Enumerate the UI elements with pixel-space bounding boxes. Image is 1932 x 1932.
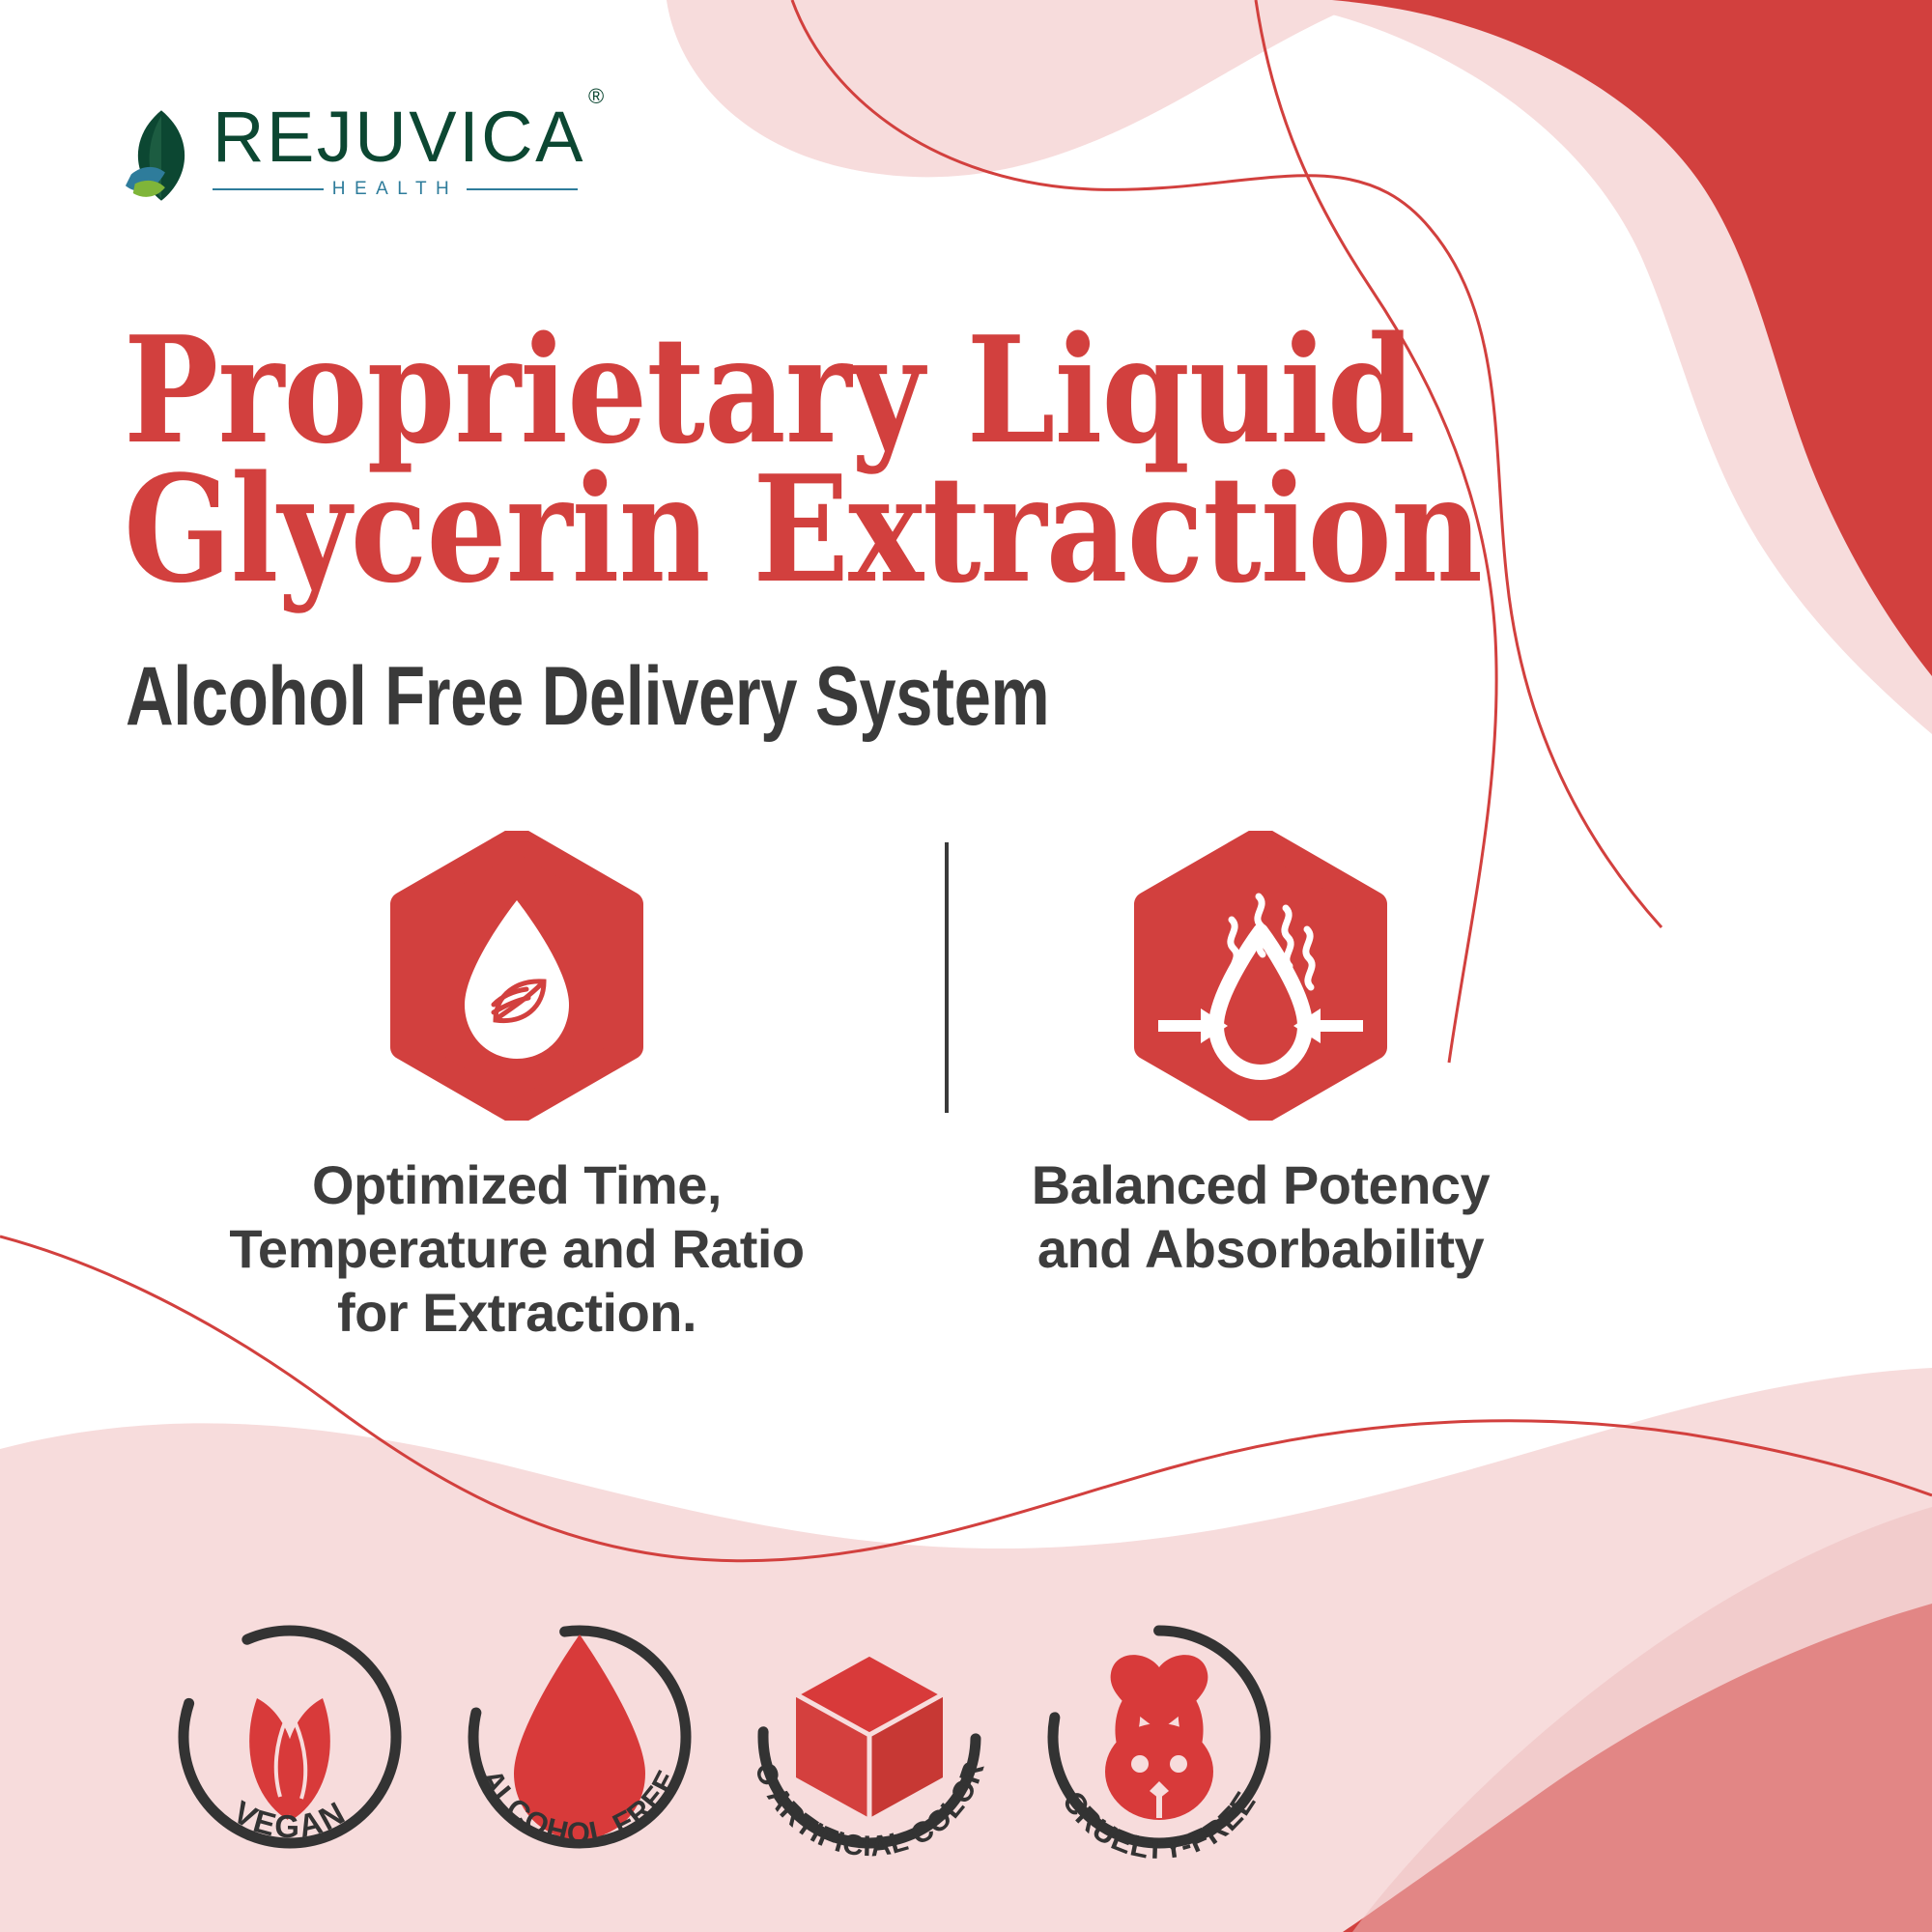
- badge-no-artificial-colors[interactable]: NO ARTIFICIAL COLORS: [724, 1592, 1014, 1882]
- headline-line-1: Proprietary Liquid: [124, 321, 1420, 460]
- registered-trademark-icon: ®: [588, 84, 607, 108]
- feature-list: Optimized Time, Temperature and Ratio fo…: [145, 831, 1633, 1372]
- two-leaves-icon: [249, 1698, 330, 1820]
- feature-item-balanced-potency: Balanced Potency and Absorbability: [889, 831, 1633, 1281]
- logo-rule-left: [213, 188, 324, 190]
- feature-caption-1-line-2: Temperature and Ratio: [159, 1217, 874, 1281]
- logo-wordmark-text: REJUVICA: [213, 97, 585, 177]
- feature-caption-1-line-1: Optimized Time,: [159, 1153, 874, 1217]
- rabbit-heart-icon: [1105, 1655, 1213, 1820]
- feature-caption-2-line-2: and Absorbability: [903, 1217, 1618, 1281]
- badge-cruelty-free[interactable]: CRUELTY-FREE: [1014, 1592, 1304, 1882]
- brand-logo[interactable]: REJUVICA® HEALTH: [124, 104, 607, 211]
- headline-line-2: Glycerin Extraction: [124, 460, 1420, 599]
- page-title: Proprietary Liquid Glycerin Extraction: [124, 321, 1631, 600]
- badge-vegan[interactable]: VEGAN: [145, 1592, 435, 1882]
- logo-subtitle: HEALTH: [213, 179, 578, 200]
- feature-caption-1-line-3: for Extraction.: [159, 1281, 874, 1345]
- feature-caption-2: Balanced Potency and Absorbability: [903, 1153, 1618, 1281]
- feature-caption-1: Optimized Time, Temperature and Ratio fo…: [159, 1153, 874, 1345]
- poster-canvas: REJUVICA® HEALTH Proprietary Liquid Glyc…: [0, 0, 1932, 1932]
- feature-item-optimized-extraction: Optimized Time, Temperature and Ratio fo…: [145, 831, 889, 1345]
- feature-divider: [945, 842, 949, 1113]
- certification-badge-row: VEGAN ALCOHOL FREE: [145, 1592, 1304, 1882]
- badge-alcohol-free[interactable]: ALCOHOL FREE: [435, 1592, 724, 1882]
- leaf-icon: [124, 108, 199, 203]
- heated-droplet-pressure-hexagon-icon: [1116, 831, 1406, 1121]
- page-subtitle: Alcohol Free Delivery System: [126, 649, 1049, 745]
- logo-rule-right: [467, 188, 578, 190]
- logo-text-block: REJUVICA® HEALTH: [213, 104, 604, 200]
- logo-subtitle-text: HEALTH: [324, 179, 468, 200]
- cube-icon: [796, 1654, 943, 1818]
- droplet-leaf-hexagon-icon: [372, 831, 662, 1121]
- logo-wordmark: REJUVICA®: [213, 104, 604, 170]
- feature-caption-2-line-1: Balanced Potency: [903, 1153, 1618, 1217]
